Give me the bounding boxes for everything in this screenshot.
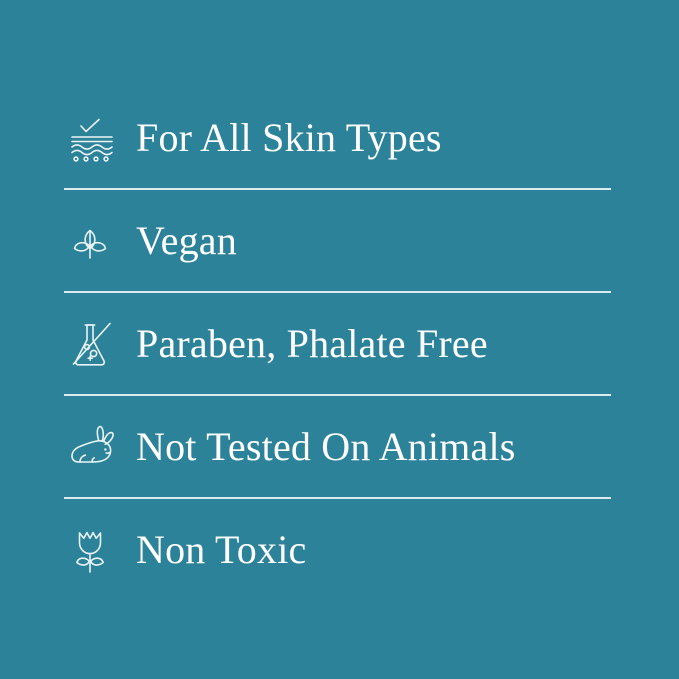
- divider: [64, 188, 611, 190]
- divider-1-wrapper: [64, 179, 612, 199]
- divider-4-wrapper: [64, 488, 612, 508]
- flask-no-chemicals-icon: [68, 314, 124, 374]
- badge-row-not-tested-on-animals: Not Tested On Animals: [64, 405, 612, 488]
- divider: [64, 497, 611, 499]
- divider: [64, 394, 611, 396]
- badge-label: Paraben, Phalate Free: [136, 323, 488, 365]
- divider: [64, 291, 611, 293]
- rabbit-icon: [68, 417, 124, 477]
- badge-row-non-toxic: Non Toxic: [64, 508, 612, 591]
- leaf-sprout-icon: [68, 211, 124, 271]
- divider-2-wrapper: [64, 282, 612, 302]
- badge-label: Vegan: [136, 220, 237, 262]
- product-claims-panel: For All Skin Types Vegan: [0, 0, 679, 679]
- badge-label: Non Toxic: [136, 529, 306, 571]
- skin-layers-check-icon: [68, 108, 124, 168]
- badge-row-for-all-skin-types: For All Skin Types: [64, 96, 612, 179]
- badge-label: For All Skin Types: [136, 117, 442, 159]
- divider-3-wrapper: [64, 385, 612, 405]
- badge-row-paraben-phalate-free: Paraben, Phalate Free: [64, 302, 612, 385]
- tulip-flower-icon: [68, 520, 124, 580]
- badge-label: Not Tested On Animals: [136, 426, 516, 468]
- badge-list: For All Skin Types Vegan: [64, 96, 612, 591]
- badge-row-vegan: Vegan: [64, 199, 612, 282]
